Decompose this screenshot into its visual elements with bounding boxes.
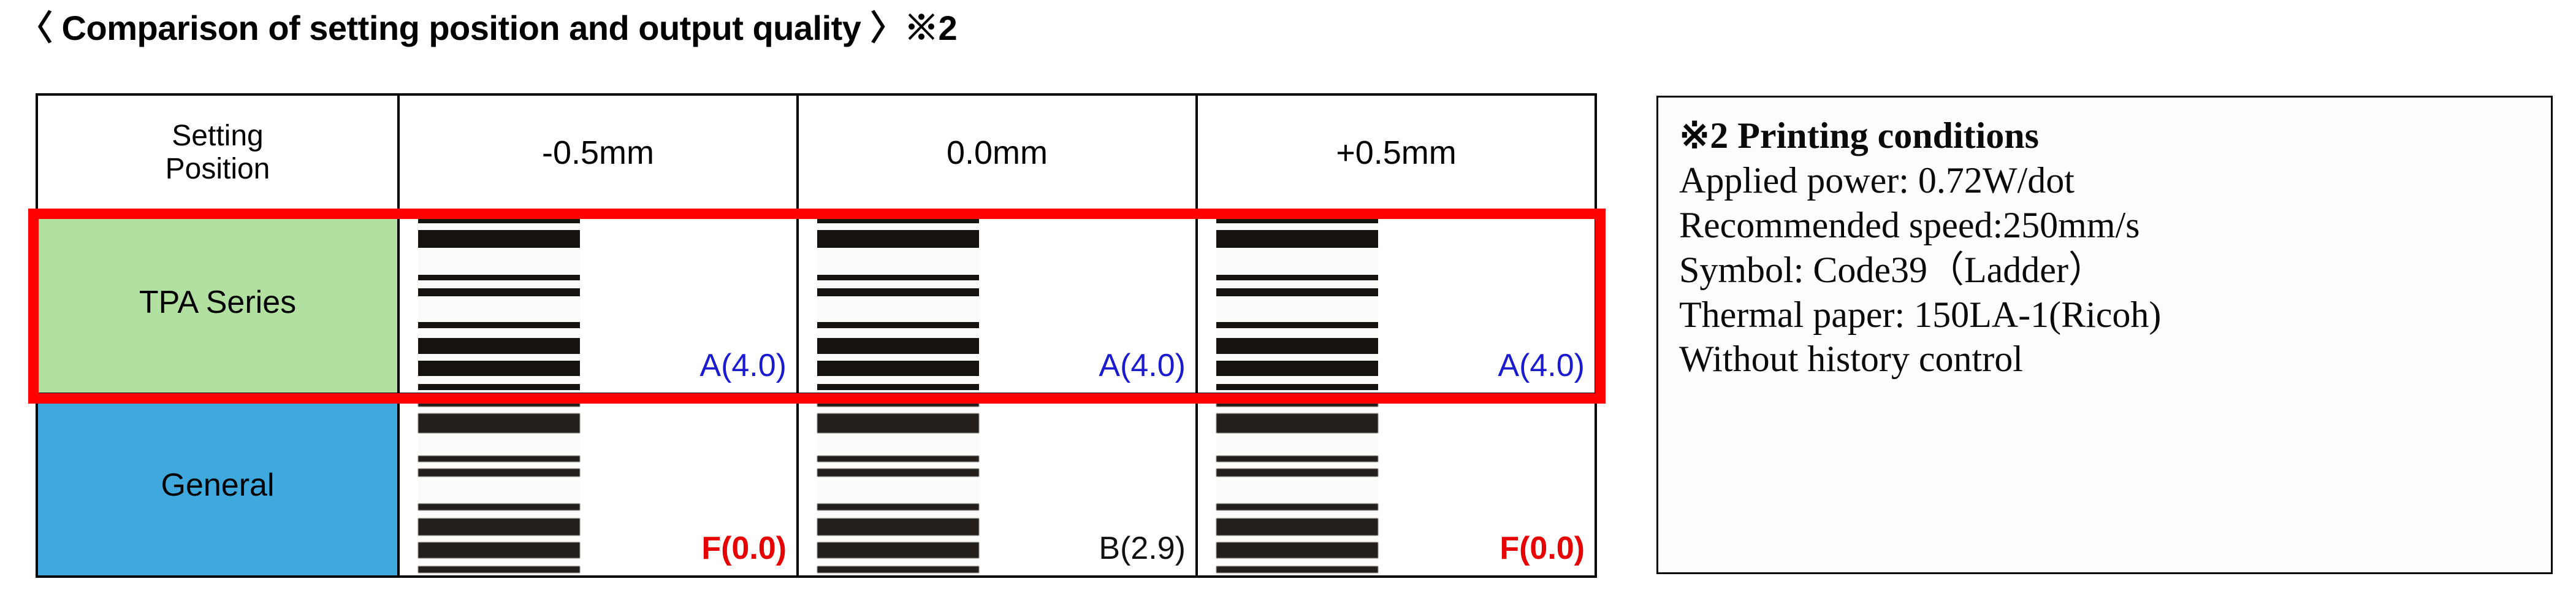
barcode-bar [418,413,580,434]
barcode-bar [817,566,979,573]
barcode-image [817,400,979,573]
barcode-gap [418,328,580,337]
header-col-zero: 0.0mm [798,94,1197,211]
barcode-image [1216,400,1378,573]
barcode-gap [418,376,580,384]
barcode-gap [1216,223,1378,230]
barcode-bar [1216,413,1378,434]
barcode-bar [817,230,979,248]
page-title: 〈 Comparison of setting position and out… [18,4,1612,47]
grade-label: F(0.0) [1499,532,1585,564]
barcode-bar [418,518,580,535]
barcode-gap [418,280,580,288]
barcode-bar [1216,322,1378,328]
barcode-bar [1216,384,1378,390]
barcode-gap [1216,280,1378,288]
table-header-row: Setting Position -0.5mm 0.0mm +0.5mm [37,94,1596,211]
barcode-bar [817,518,979,535]
table-row: TPA Series A(4.0) A(4.0) [37,211,1596,394]
barcode-gap [817,407,979,413]
barcode-gap [817,477,979,504]
note-heading: ※2 Printing conditions [1679,113,2530,158]
note-thermal-paper: Thermal paper: 150LA-1(Ricoh) [1679,293,2530,337]
barcode-bar [817,322,979,328]
barcode-bar [817,275,979,280]
row-label-tpa-series: TPA Series [37,211,398,394]
barcode-bar [1216,456,1378,462]
barcode-gap [817,248,979,275]
sample-cell-general-minus05: F(0.0) [398,394,798,577]
barcode-bar [817,288,979,296]
grade-label: F(0.0) [701,532,787,564]
barcode-bar [1216,275,1378,280]
barcode-bar [418,469,580,477]
barcode-image [817,217,979,390]
barcode-gap [418,354,580,361]
barcode-bar [418,384,580,390]
barcode-bar [1216,566,1378,573]
sample-cell-tpa-plus05: A(4.0) [1197,211,1596,394]
barcode-gap [817,223,979,230]
barcode-bar [418,230,580,248]
barcode-bar [418,288,580,296]
barcode-bar [418,400,580,407]
barcode-gap [1216,433,1378,456]
barcode-bar [1216,230,1378,248]
barcode-bar [418,504,580,510]
note-symbol: Symbol: Code39（Ladder） [1679,248,2530,293]
header-setting-line2: Position [38,153,397,186]
barcode-bar [1216,288,1378,296]
grade-label: A(4.0) [1498,350,1585,382]
note-recommended-speed: Recommended speed:250mm/s [1679,203,2530,248]
sample-cell-general-plus05: F(0.0) [1197,394,1596,577]
barcode-gap [1216,510,1378,518]
sample-cell-tpa-zero: A(4.0) [798,211,1197,394]
barcode-gap [418,296,580,322]
barcode-gap [1216,376,1378,384]
comparison-table-container: Setting Position -0.5mm 0.0mm +0.5mm TPA… [36,93,1595,575]
barcode-bar [817,400,979,407]
barcode-bar [1216,338,1378,355]
barcode-bar [418,275,580,280]
barcode-gap [1216,328,1378,337]
barcode-bar [1216,217,1378,223]
barcode-bar [418,542,580,558]
barcode-gap [418,558,580,566]
barcode-gap [418,477,580,504]
barcode-gap [418,462,580,469]
barcode-gap [817,296,979,322]
barcode-gap [418,223,580,230]
barcode-bar [1216,361,1378,375]
barcode-gap [817,558,979,566]
barcode-bar [418,217,580,223]
grade-label: A(4.0) [699,350,787,382]
barcode-bar [817,338,979,355]
barcode-gap [1216,462,1378,469]
grade-label: A(4.0) [1099,350,1186,382]
barcode-bar [817,217,979,223]
note-history-control: Without history control [1679,337,2530,382]
barcode-bar [1216,504,1378,510]
sample-cell-general-zero: B(2.9) [798,394,1197,577]
barcode-gap [817,535,979,542]
header-setting-line1: Setting [38,120,397,153]
barcode-bar [1216,518,1378,535]
barcode-gap [817,376,979,384]
barcode-gap [817,328,979,337]
barcode-gap [418,535,580,542]
barcode-gap [418,433,580,456]
barcode-bar [817,469,979,477]
row-label-general: General [37,394,398,577]
barcode-bar [1216,542,1378,558]
barcode-image [418,217,580,390]
barcode-gap [418,510,580,518]
header-setting-position: Setting Position [37,94,398,211]
barcode-bar [1216,469,1378,477]
barcode-gap [1216,407,1378,413]
barcode-gap [1216,248,1378,275]
barcode-bar [817,413,979,434]
barcode-gap [1216,477,1378,504]
barcode-bar [1216,400,1378,407]
barcode-gap [418,248,580,275]
barcode-gap [817,462,979,469]
printing-conditions-box: ※2 Printing conditions Applied power: 0.… [1656,96,2553,574]
barcode-bar [418,322,580,328]
barcode-gap [817,510,979,518]
barcode-gap [1216,535,1378,542]
barcode-bar [817,456,979,462]
grade-label: B(2.9) [1099,532,1186,564]
barcode-image [1216,217,1378,390]
barcode-gap [1216,558,1378,566]
sample-cell-tpa-minus05: A(4.0) [398,211,798,394]
barcode-bar [817,504,979,510]
barcode-bar [418,338,580,355]
barcode-bar [817,384,979,390]
barcode-gap [1216,354,1378,361]
barcode-gap [817,354,979,361]
header-col-plus05: +0.5mm [1197,94,1596,211]
barcode-gap [817,280,979,288]
barcode-bar [817,542,979,558]
barcode-bar [418,361,580,375]
header-col-minus05: -0.5mm [398,94,798,211]
barcode-gap [418,407,580,413]
barcode-bar [418,566,580,573]
barcode-gap [1216,296,1378,322]
note-applied-power: Applied power: 0.72W/dot [1679,158,2530,203]
barcode-image [418,400,580,573]
comparison-table: Setting Position -0.5mm 0.0mm +0.5mm TPA… [36,93,1597,578]
barcode-gap [817,433,979,456]
table-row: General F(0.0) B(2.9) [37,394,1596,577]
barcode-bar [418,456,580,462]
barcode-bar [817,361,979,375]
